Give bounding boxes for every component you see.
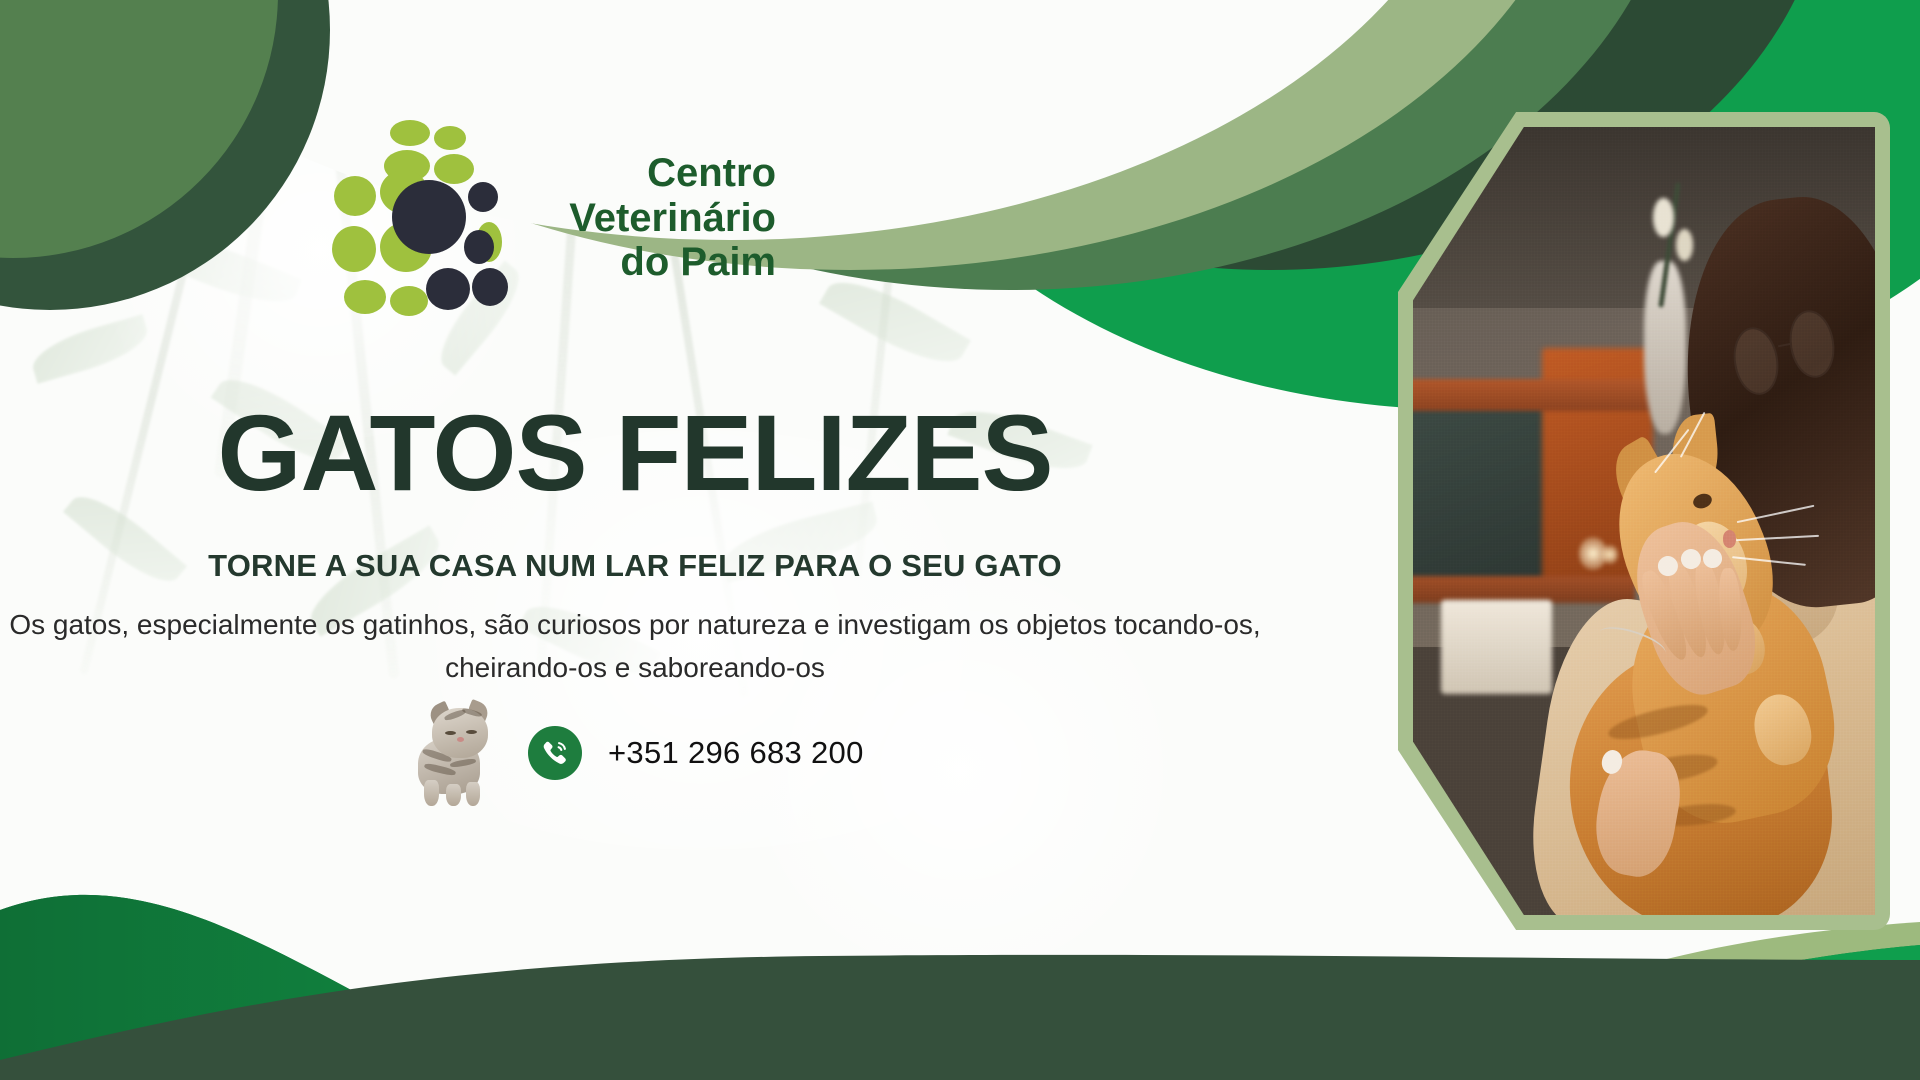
body-copy: Os gatos, especialmente os gatinhos, são… xyxy=(0,604,1270,689)
brand-logo[interactable]: Centro Veterinário do Paim xyxy=(330,118,776,318)
phone-number[interactable]: +351 296 683 200 xyxy=(608,735,864,771)
page-subtitle: TORNE A SUA CASA NUM LAR FELIZ PARA O SE… xyxy=(0,548,1270,584)
brand-name-line1: Centro xyxy=(516,151,776,196)
poster-canvas: Centro Veterinário do Paim GATOS FELIZES… xyxy=(0,0,1920,1080)
kitten-photo xyxy=(410,700,502,806)
woman-with-cat-photo xyxy=(1413,127,1875,915)
brand-name-line3: do Paim xyxy=(516,240,776,285)
brand-name: Centro Veterinário do Paim xyxy=(516,151,776,285)
dot-cluster-logo-icon xyxy=(330,118,502,318)
hero-photo-frame xyxy=(1398,112,1890,930)
brand-name-line2: Veterinário xyxy=(516,196,776,241)
contact-row: +351 296 683 200 xyxy=(410,700,864,806)
page-title: GATOS FELIZES xyxy=(0,390,1270,515)
phone-call-icon[interactable] xyxy=(528,726,582,780)
